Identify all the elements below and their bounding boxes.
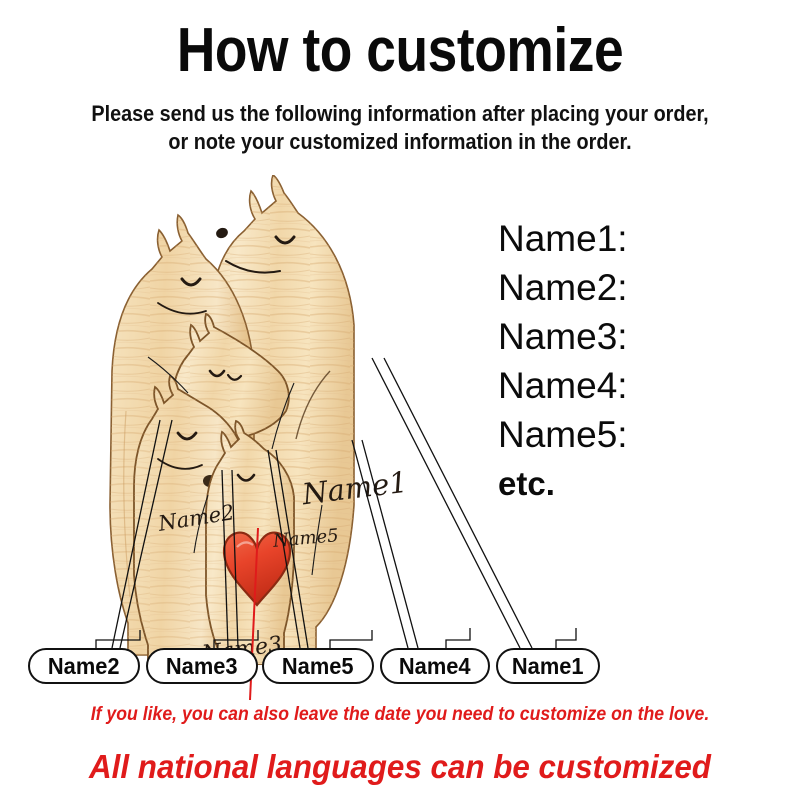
sculpture-illustration — [30, 175, 480, 665]
page-subtitle: Please send us the following information… — [0, 100, 800, 156]
callout-label-name5[interactable]: Name5 — [262, 648, 374, 684]
name-field-row-2: Name2: — [498, 263, 728, 312]
callout-label-name1-text: Name1 — [512, 653, 584, 680]
name-field-row-1: Name1: — [498, 214, 728, 263]
name-field-row-etc: etc. — [498, 459, 728, 508]
bear-large-nose — [215, 226, 230, 240]
callout-label-name1[interactable]: Name1 — [496, 648, 600, 684]
bear-family-sculpture: Name1 Name2 Name5 Name3 Name4 — [30, 175, 480, 665]
callout-label-name5-text: Name5 — [282, 653, 354, 680]
callout-label-name3[interactable]: Name3 — [146, 648, 258, 684]
name-field-row-4: Name4: — [498, 361, 728, 410]
date-customization-note: If you like, you can also leave the date… — [28, 704, 772, 726]
name-field-list: Name1: Name2: Name3: Name4: Name5: etc. — [498, 214, 728, 508]
callout-label-row: Name2 Name3 Name5 Name4 Name1 — [0, 648, 800, 696]
subtitle-line-1: Please send us the following information… — [40, 100, 760, 128]
callout-label-name4[interactable]: Name4 — [380, 648, 490, 684]
callout-label-name3-text: Name3 — [166, 653, 238, 680]
customization-instruction-page: How to customize Please send us the foll… — [0, 0, 800, 800]
name-field-row-3: Name3: — [498, 312, 728, 361]
callout-label-name2-text: Name2 — [48, 653, 120, 680]
name-field-row-5: Name5: — [498, 410, 728, 459]
languages-banner: All national languages can be customized — [20, 748, 780, 786]
callout-label-name4-text: Name4 — [399, 653, 471, 680]
subtitle-line-2: or note your customized information in t… — [40, 128, 760, 156]
callout-label-name2[interactable]: Name2 — [28, 648, 140, 684]
page-title: How to customize — [56, 18, 744, 84]
